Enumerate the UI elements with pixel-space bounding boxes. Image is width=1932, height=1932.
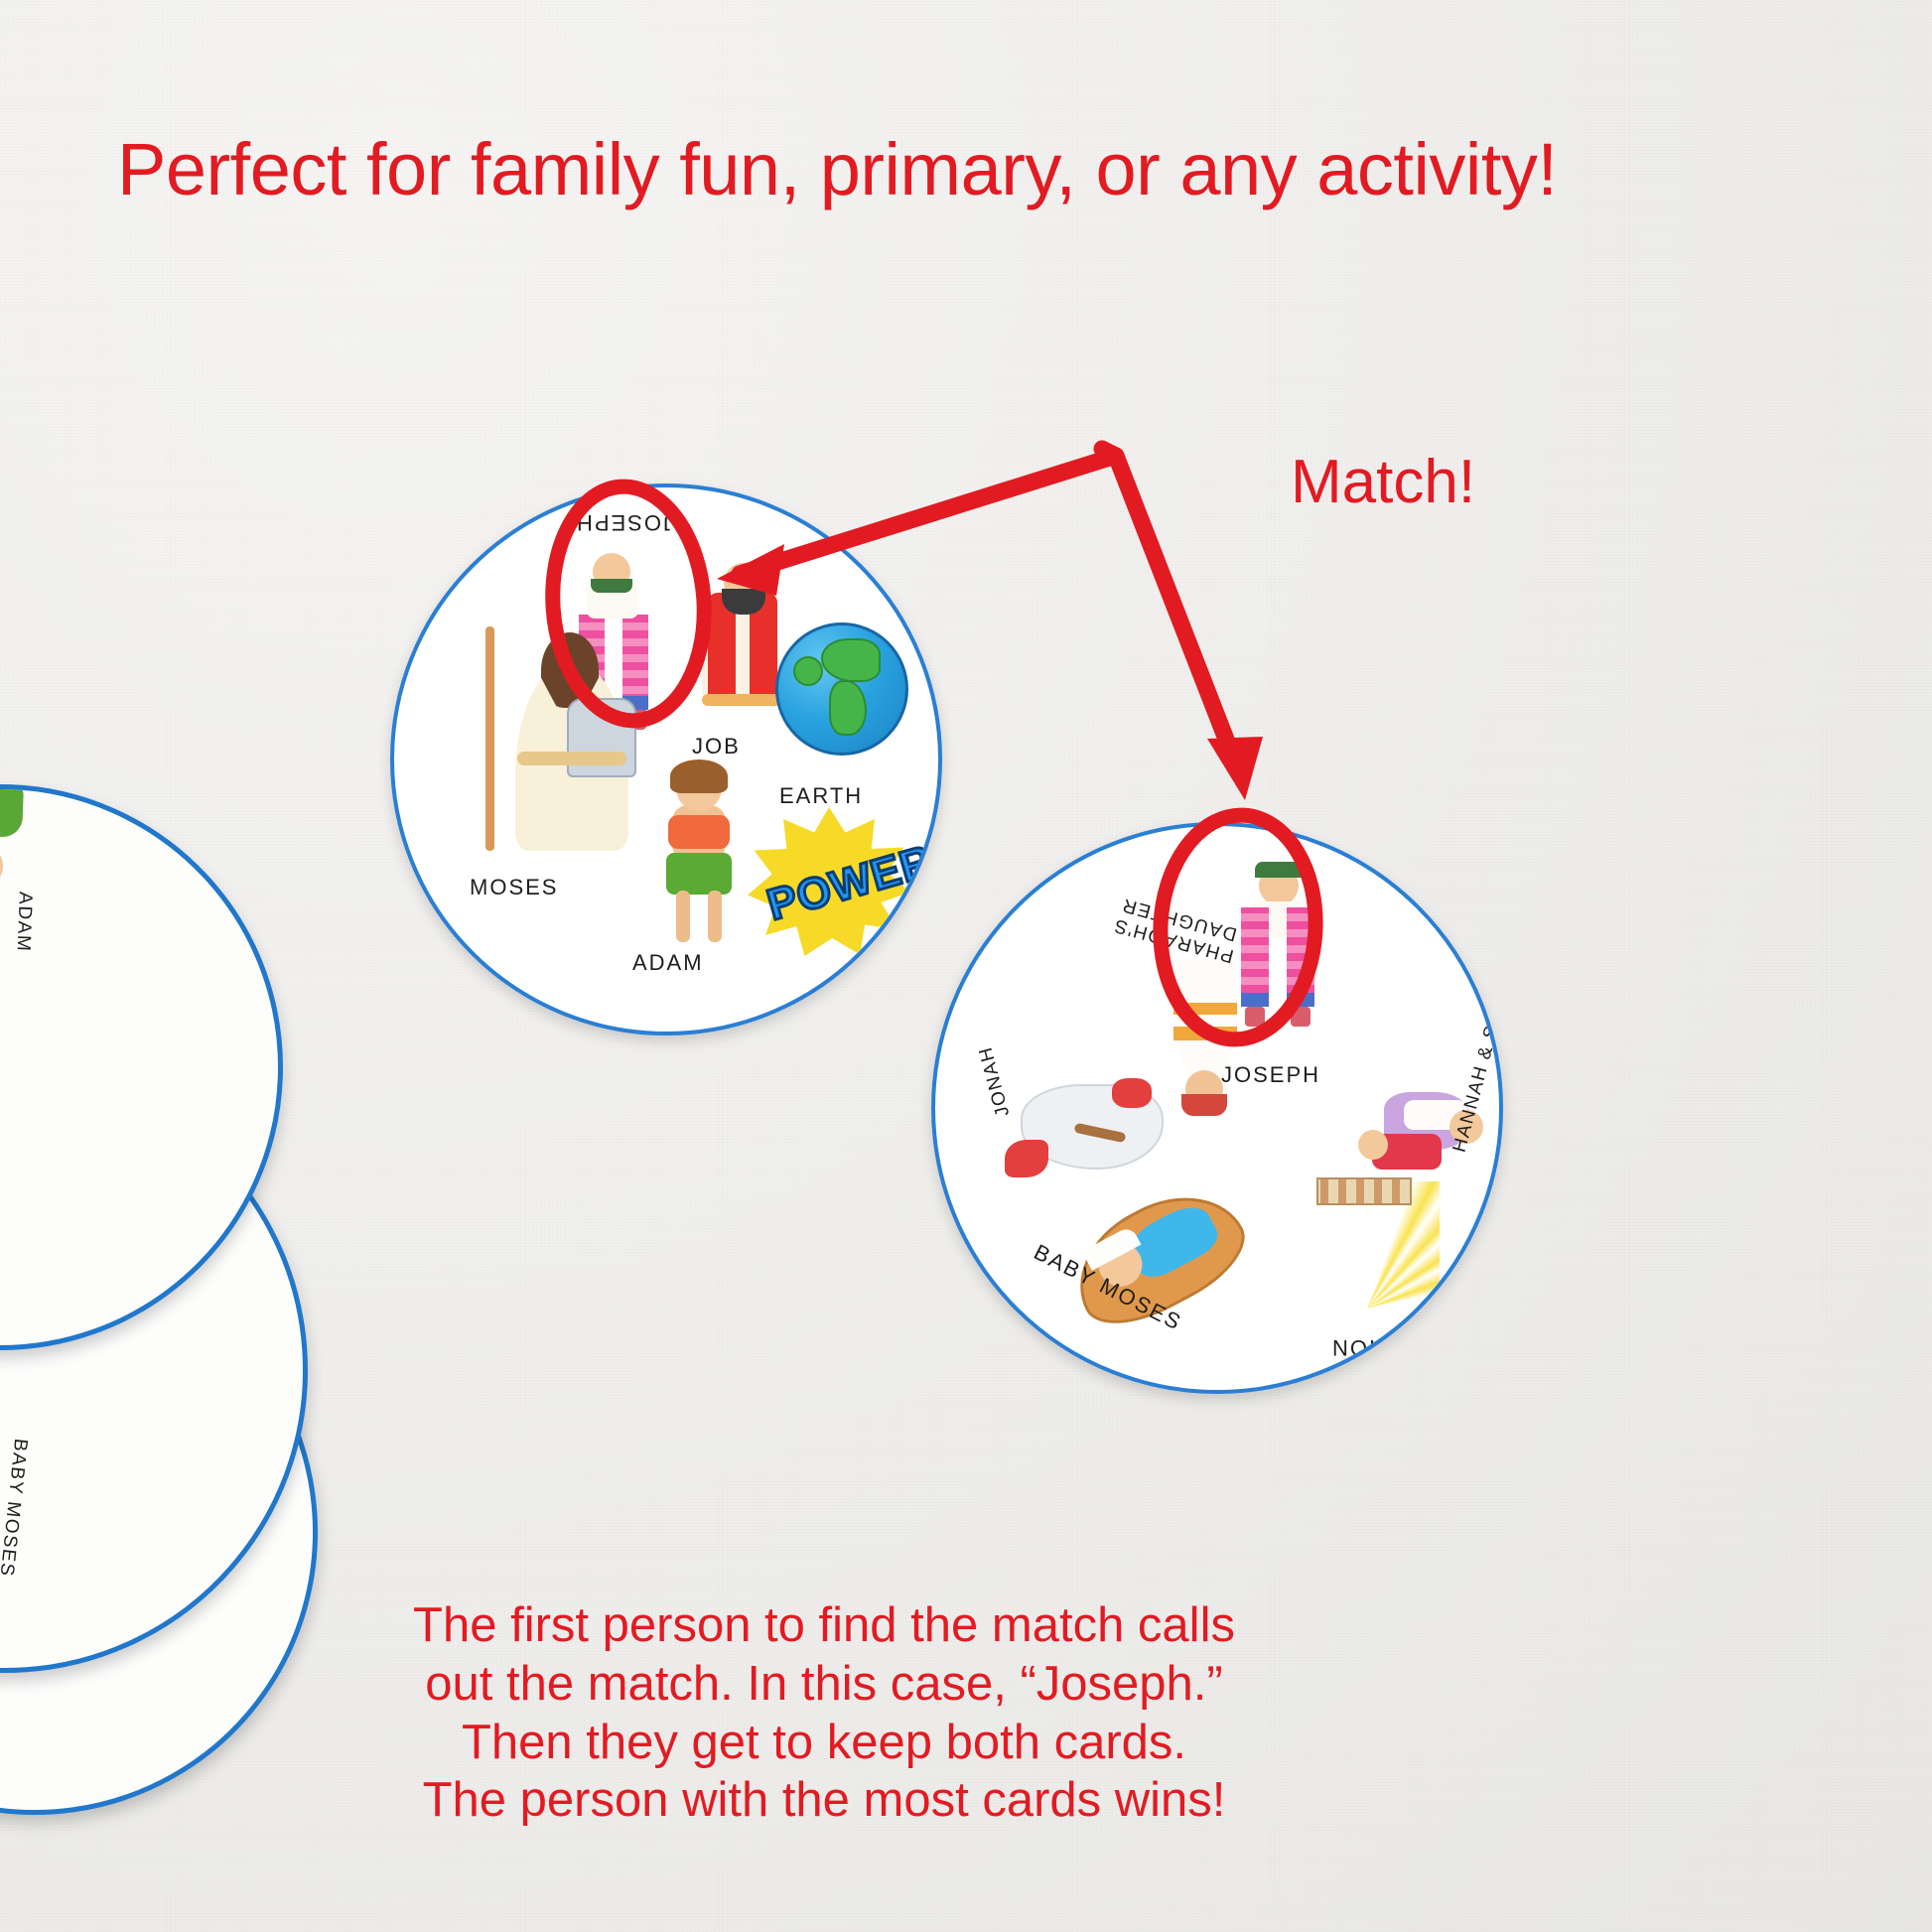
- joseph-coat-icon: [1215, 860, 1338, 1058]
- match-arrow-right: [1116, 456, 1239, 772]
- match-annotation-label: Match!: [1291, 447, 1475, 517]
- power-burst-icon: POWER: [748, 807, 910, 956]
- card-icon-label: ADAM: [632, 950, 704, 976]
- card-icon-label: JOSEPH: [575, 509, 674, 535]
- card-icon-label: ZION: [1330, 1334, 1391, 1360]
- match-arrowhead-right: [1207, 737, 1263, 800]
- card-icon-label: JOSEPH: [1221, 1062, 1320, 1088]
- earth-globe-icon: [767, 615, 916, 763]
- card-icon-label: MOSES: [470, 875, 558, 900]
- rules-line-4: The person with the most cards wins!: [377, 1771, 1271, 1830]
- adam-figure-icon: [628, 754, 767, 952]
- moses-tablets-icon: [456, 607, 654, 865]
- rules-line-3: Then they get to keep both cards.: [377, 1714, 1271, 1772]
- rules-text: The first person to find the match calls…: [377, 1596, 1271, 1830]
- card-top[interactable]: JOSEPH JOB EARTH MOSES ADAM: [390, 483, 942, 1035]
- rules-line-2: out the match. In this case, “Joseph.”: [377, 1655, 1271, 1714]
- card-icon-label: ADAM: [12, 892, 36, 953]
- page-title: Perfect for family fun, primary, or any …: [117, 127, 1557, 211]
- card-bottom-right[interactable]: PHARAOH'S DAUGHTER JONAH JOSEPH HANNAH &…: [931, 822, 1503, 1394]
- rules-line-1: The first person to find the match calls: [377, 1596, 1271, 1655]
- card-icon-label: EARTH: [779, 783, 863, 809]
- zion-rays-icon: [1281, 1166, 1449, 1324]
